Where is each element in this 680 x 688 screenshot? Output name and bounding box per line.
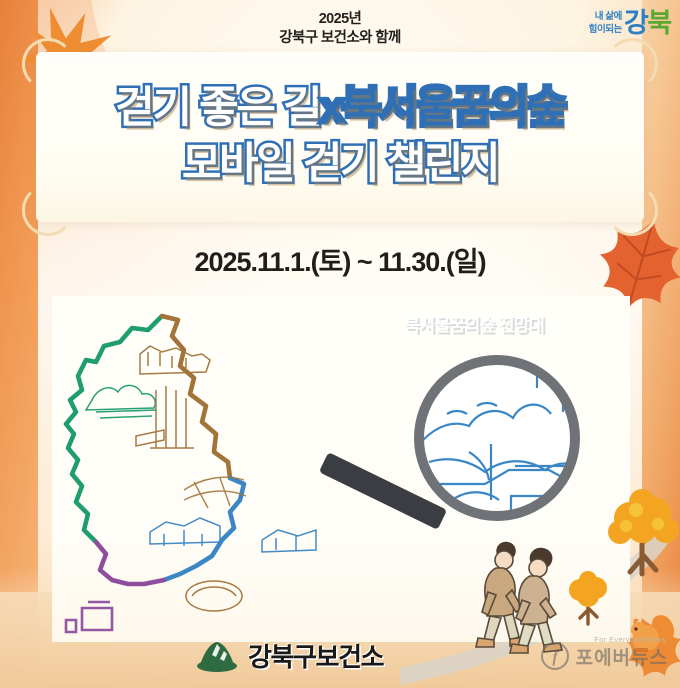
watermark-name: 포에버뉴스: [576, 643, 668, 670]
forever-news-logo-icon: f: [541, 642, 569, 670]
footer-organization-name: 강북구보건소: [248, 637, 383, 674]
title-line-2: 모바일 걷기 챌린지: [36, 136, 644, 192]
eyebrow-year: 2025년: [36, 10, 644, 29]
brand-mark-buk: 북: [647, 8, 670, 38]
autumn-tree-icon: [566, 570, 612, 628]
landmark-sketch-park: [86, 385, 156, 418]
landmark-sketch-dome: [186, 581, 242, 611]
district-map: [44, 308, 344, 638]
mountain-icon: [196, 639, 238, 673]
eyebrow-subtitle: 강북구 보건소와 함께: [36, 29, 644, 48]
event-period: 2025.11.1.(토) ~ 11.30.(일): [0, 240, 680, 279]
title-part-x: x: [320, 84, 342, 132]
watermark-mark: f: [552, 649, 559, 666]
walking-people-icon: [470, 534, 580, 654]
footer-organization: 강북구보건소: [196, 637, 383, 674]
landmark-sketch-south: [150, 518, 220, 546]
poster-root: 내 삶에 힘이되는 강북 2025년 강북구 보건소와 함께 걷기 좋은 길x북…: [0, 0, 680, 688]
observatory-label-main: 북서울꿈의숲: [404, 315, 495, 335]
news-watermark: f 포에버뉴스: [541, 642, 668, 670]
observatory-label: 북서울꿈의숲 전망대: [404, 312, 544, 337]
landmark-sketch-southwest: [66, 602, 112, 632]
title-banner-card: 2025년 강북구 보건소와 함께 걷기 좋은 길x북서울꿈의숲 모바일 걷기 …: [36, 52, 644, 222]
main-title: 걷기 좋은 길x북서울꿈의숲 모바일 걷기 챌린지: [36, 80, 644, 192]
magnifier-icon: [305, 348, 595, 548]
landmark-sketch-north: [140, 346, 210, 374]
title-part-walking-path: 걷기 좋은 길: [115, 84, 320, 132]
header-eyebrow: 2025년 강북구 보건소와 함께: [36, 10, 644, 48]
title-part-dream-forest: 북서울꿈의숲: [342, 84, 565, 132]
observatory-label-sub: 전망대: [498, 315, 543, 335]
autumn-tree-icon: [608, 488, 680, 584]
title-line-1: 걷기 좋은 길x북서울꿈의숲: [36, 80, 644, 136]
